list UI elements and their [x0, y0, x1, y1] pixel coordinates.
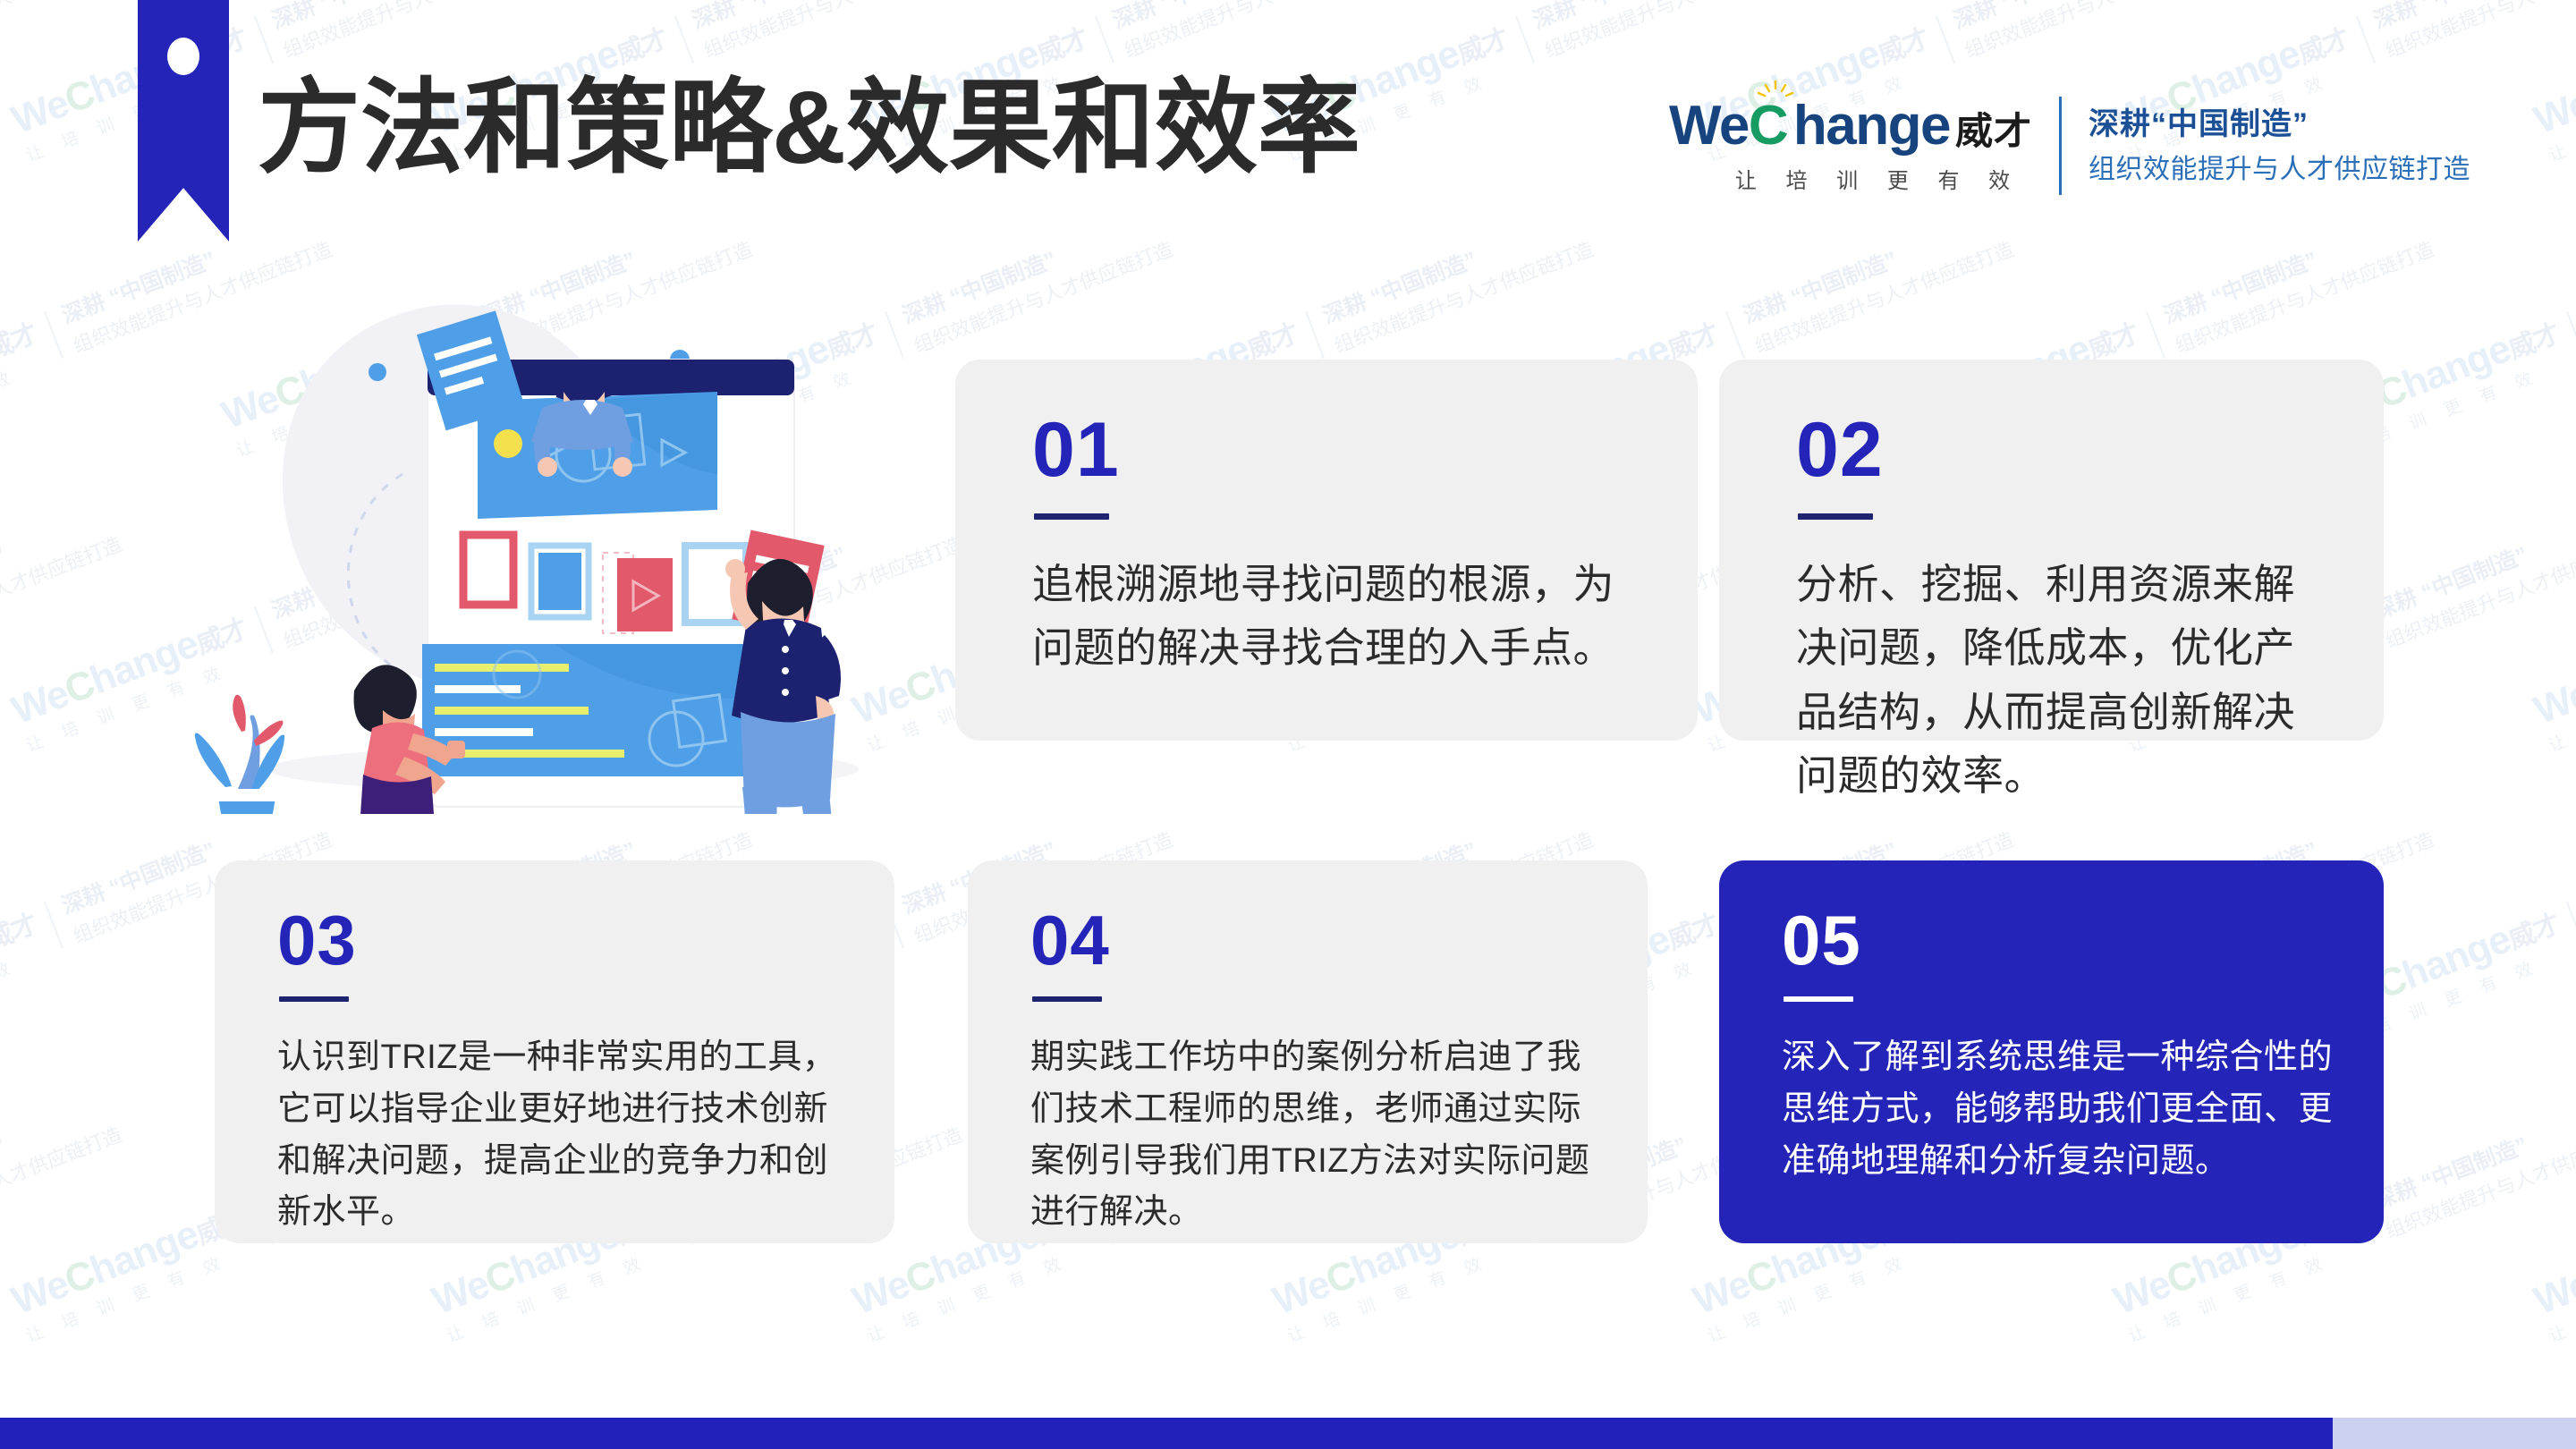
card-number: 04 — [1030, 905, 1110, 975]
brand-watermark: WeChange威才让 培 训 更 有 效深耕 “中国制造”组织效能提升与人才供… — [2529, 0, 2576, 166]
insight-card-01[interactable]: 01 追根溯源地寻找问题的根源，为问题的解决寻找合理的入手点。 — [955, 360, 1698, 741]
logo-wordmark-group: We C hange威才 让 培 训 更 有 效 — [1669, 98, 2032, 194]
logo-tagline-primary: 深耕“中国制造” — [2089, 103, 2470, 147]
logo-divider — [2059, 97, 2062, 195]
insight-card-02[interactable]: 02 分析、挖掘、利用资源来解决问题，降低成本，优化产品结构，从而提高创新解决问… — [1719, 360, 2384, 741]
card-number: 01 — [1032, 411, 1120, 488]
card-rule-divider — [1784, 996, 1853, 1002]
logo-c-glyph: C — [1749, 98, 1793, 154]
brand-watermark: WeChange威才让 培 训 更 有 效深耕 “中国制造”组织效能提升与人才供… — [0, 494, 127, 758]
card-body-text: 追根溯源地寻找问题的根源，为问题的解决寻找合理的入手点。 — [1032, 553, 1648, 681]
card-rule-divider — [279, 996, 349, 1002]
page-title: 方法和策略&效果和效率 — [258, 77, 1360, 180]
ribbon-dot — [167, 38, 199, 75]
bookmark-ribbon-icon — [138, 0, 229, 241]
team-building-webpage-illustration — [179, 250, 948, 814]
logo-we-text: We — [1669, 98, 1749, 154]
illustration-svg — [179, 250, 948, 814]
insight-card-03[interactable]: 03 认识到TRIZ是一种非常实用的工具，它可以指导企业更好地进行技术创新和解决… — [215, 860, 894, 1243]
logo-wordmark: We C hange威才 — [1669, 98, 2032, 154]
card-rule-divider — [1798, 513, 1873, 520]
card-number: 05 — [1782, 905, 1861, 975]
card-rule-divider — [1034, 513, 1109, 520]
brand-watermark: WeChange威才让 培 训 更 有 效深耕 “中国制造”组织效能提升与人才供… — [2529, 494, 2576, 758]
logo-hange-text: hange — [1793, 98, 1950, 154]
brand-watermark: WeChange威才让 培 训 更 有 效深耕 “中国制造”组织效能提升与人才供… — [2529, 1084, 2576, 1348]
brand-logo: We C hange威才 让 培 训 更 有 效 — [1669, 97, 2470, 195]
footer-bar-primary — [0, 1418, 2333, 1449]
card-body-text: 期实践工作坊中的案例分析启迪了我们技术工程师的思维，老师通过实际案例引导我们用T… — [1030, 1032, 1606, 1239]
slide-canvas: 方法和策略&效果和效率 We C hange威才 — [0, 0, 2576, 1449]
card-rule-divider — [1032, 996, 1102, 1002]
logo-slogan: 让 培 训 更 有 效 — [1669, 163, 2032, 194]
card-body-text: 分析、挖掘、利用资源来解决问题，降低成本，优化产品结构，从而提高创新解决问题的效… — [1796, 553, 2334, 808]
logo-tagline-group: 深耕“中国制造” 组织效能提升与人才供应链打造 — [2089, 103, 2470, 190]
insight-card-04[interactable]: 04 期实践工作坊中的案例分析启迪了我们技术工程师的思维，老师通过实际案例引导我… — [968, 860, 1648, 1243]
insight-card-05[interactable]: 05 深入了解到系统思维是一种综合性的思维方式，能够帮助我们更全面、更准确地理解… — [1719, 860, 2384, 1243]
brand-watermark: WeChange威才让 培 训 更 有 效深耕 “中国制造”组织效能提升与人才供… — [0, 1084, 127, 1348]
footer-bar-accent — [2333, 1418, 2576, 1449]
logo-cn-text: 威才 — [1955, 113, 2032, 150]
logo-tagline-secondary: 组织效能提升与人才供应链打造 — [2089, 150, 2470, 190]
brand-watermark: WeChange威才让 培 训 更 有 效深耕 “中国制造”组织效能提升与人才供… — [0, 0, 127, 166]
card-number: 03 — [277, 905, 357, 975]
card-number: 02 — [1796, 411, 1884, 488]
logo-c-text: C — [1749, 95, 1787, 157]
card-body-text: 深入了解到系统思维是一种综合性的思维方式，能够帮助我们更全面、更准确地理解和分析… — [1782, 1032, 2343, 1187]
spark-icon — [1756, 80, 1795, 104]
card-body-text: 认识到TRIZ是一种非常实用的工具，它可以指导企业更好地进行技术创新和解决问题，… — [277, 1032, 853, 1239]
